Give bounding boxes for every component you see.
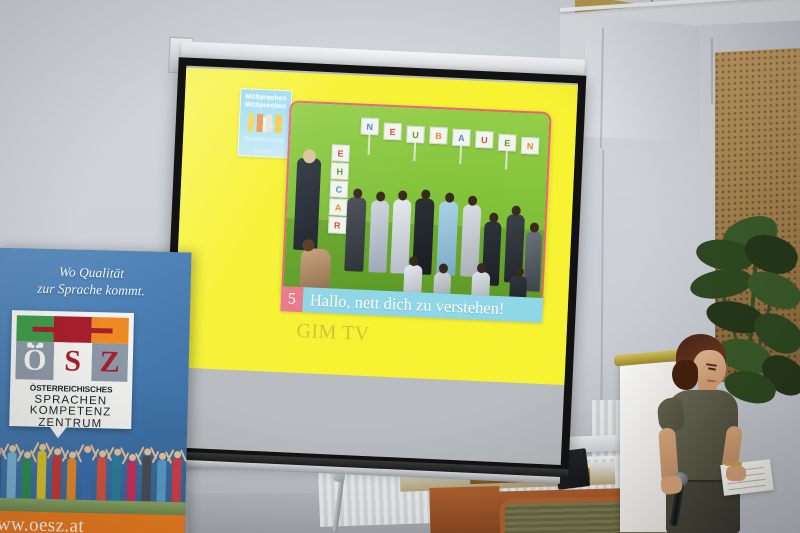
photo-person-head [489, 212, 498, 222]
program-logo-line2: MitSprechen [245, 101, 287, 111]
slide-caption-number: 5 [280, 286, 303, 312]
photo-letter-card: U [475, 131, 494, 149]
banner-kid-head [54, 448, 61, 455]
banner-tagline: Wo Qualität zur Sprache kommt. [8, 262, 174, 300]
photo-person-head [409, 256, 418, 266]
photo-person-head [511, 205, 520, 215]
banner-kid-head [128, 454, 135, 461]
program-logo-footer-line1: Sprachen lernen [244, 136, 285, 145]
plant-leaf [688, 266, 753, 302]
banner-kid [96, 457, 106, 500]
banner-kid [0, 456, 1, 498]
banner-tagline-line2: zur Sprache kommt. [8, 279, 173, 300]
oesz-umlaut-dots [27, 342, 43, 348]
photo-person-head [376, 191, 385, 201]
photo-person [368, 200, 389, 273]
photo-person [390, 199, 411, 274]
banner-kid [36, 451, 46, 499]
presenter-right-hand [726, 466, 746, 481]
photo-letter-card: C [330, 180, 349, 198]
presenter [648, 334, 768, 533]
slide-brand-text: GIM TV [296, 320, 370, 346]
photo-person-head [444, 192, 453, 202]
banner-kid [126, 461, 136, 501]
photo-letter-card: N [521, 137, 540, 155]
banner-kid [111, 456, 121, 501]
banner-kid-head [98, 450, 105, 457]
program-logo: MitSprachen MitSprechen Sprachen lernen … [237, 88, 292, 158]
oesz-logo-wordmark: ÖSTERREICHISCHES SPRACHEN KOMPETENZ ZENT… [14, 382, 127, 431]
photo-person-head [468, 195, 477, 205]
banner-kid-head [84, 446, 91, 453]
photo-letter-card: H [330, 162, 349, 180]
photo-letter-card: A [329, 198, 348, 216]
photo-person-head [421, 189, 430, 199]
photo-letter-card: R [328, 216, 347, 234]
banner-kid-head [173, 451, 180, 458]
banner-kid [141, 455, 151, 501]
banner-kid-head [9, 445, 16, 452]
slide-photograph: N E U B A U E N E H C A R [281, 100, 552, 309]
oesz-acronym-cell-o: Ö [15, 341, 54, 380]
photo-person-head [514, 267, 523, 277]
photo-person-head [477, 263, 486, 273]
photo-letter-card: E [331, 144, 350, 162]
banner-kid-head [39, 444, 46, 451]
projected-slide: MitSprachen MitSprechen Sprachen lernen … [173, 68, 578, 385]
oesz-logo: Ö S Z ÖSTERREICHISCHES SPRACHEN KOMPETEN… [9, 310, 134, 429]
banner-kid [156, 460, 166, 502]
banner-url-bar: www.oesz.at [0, 511, 185, 533]
photo-person [293, 157, 321, 250]
banner-kid-arm [180, 449, 188, 462]
banner-kid-head [23, 451, 30, 458]
photo-person-head [398, 190, 407, 200]
wall-seam [711, 38, 713, 104]
rollup-banner: Wo Qualität zur Sprache kommt. Ö S Z [0, 248, 192, 533]
banner-kid [6, 452, 16, 498]
presenter-hair-back [672, 360, 698, 390]
oesz-logo-acronym: Ö S Z [15, 341, 128, 382]
photo-letter-card: B [429, 127, 448, 145]
photo-letter-card: E [383, 123, 402, 141]
banner-jumping-kids-photo [0, 430, 187, 509]
program-logo-artwork [247, 113, 282, 133]
oesz-acronym-letter: S [53, 342, 92, 381]
photo-person-head [302, 239, 315, 252]
projection-screen-assembly: MitSprachen MitSprechen Sprachen lernen … [148, 31, 587, 480]
banner-kid-head [144, 448, 151, 455]
oesz-logo-color-bars [16, 315, 129, 344]
paper-line [728, 485, 766, 491]
oesz-acronym-cell-s: S [53, 342, 92, 381]
program-logo-footer-line2: für alle! [254, 149, 272, 157]
photo-scene: MitSprachen MitSprechen Sprachen lernen … [0, 0, 800, 533]
banner-kid-head [114, 449, 121, 456]
banner-kid [66, 458, 76, 499]
banner-kid-head [68, 451, 75, 458]
banner-kid [171, 458, 181, 502]
oesz-acronym-cell-z: Z [91, 343, 128, 382]
banner-kid [51, 455, 61, 499]
slide-caption-text: Hallo, nett dich zu verstehen! [302, 290, 504, 319]
banner-url-text: www.oesz.at [0, 513, 84, 533]
banner-kid-head [158, 453, 165, 460]
photo-person-head [353, 188, 362, 198]
banner-kid [21, 458, 31, 498]
photo-person-head [438, 263, 447, 273]
photo-person [344, 197, 366, 272]
photo-person-head [303, 149, 317, 164]
oesz-acronym-letter: Z [91, 343, 128, 382]
banner-kid [81, 453, 91, 500]
